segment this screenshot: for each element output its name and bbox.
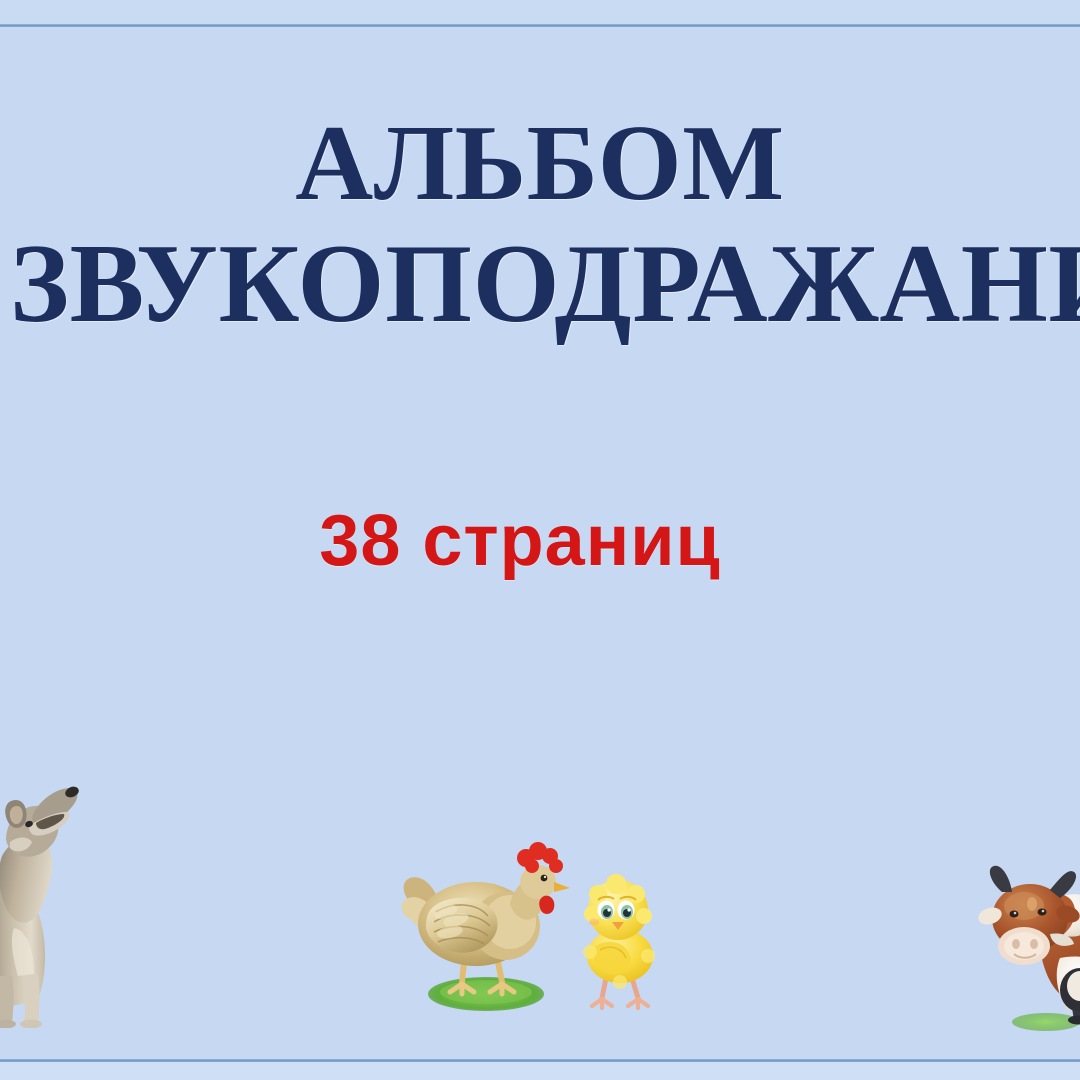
presentation-slide: АЛЬБОМ ЗВУКОПОДРАЖАНИЙ 38 страниц — [0, 0, 1080, 1080]
cow-illustration — [968, 862, 1080, 1032]
wolf-illustration — [0, 778, 116, 1028]
page-count-label: 38 страниц — [319, 500, 720, 582]
hen-illustration — [398, 842, 573, 1017]
bottom-band — [0, 1062, 1080, 1080]
title-line-1: АЛЬБОМ — [0, 108, 1080, 220]
top-divider-rule — [0, 24, 1080, 27]
subtitle: 38 страниц — [0, 500, 1080, 582]
page-title: АЛЬБОМ ЗВУКОПОДРАЖАНИЙ — [0, 108, 1080, 343]
title-line-2: ЗВУКОПОДРАЖАНИЙ — [10, 226, 1080, 342]
chick-illustration — [568, 868, 668, 1013]
top-band — [0, 0, 1080, 24]
